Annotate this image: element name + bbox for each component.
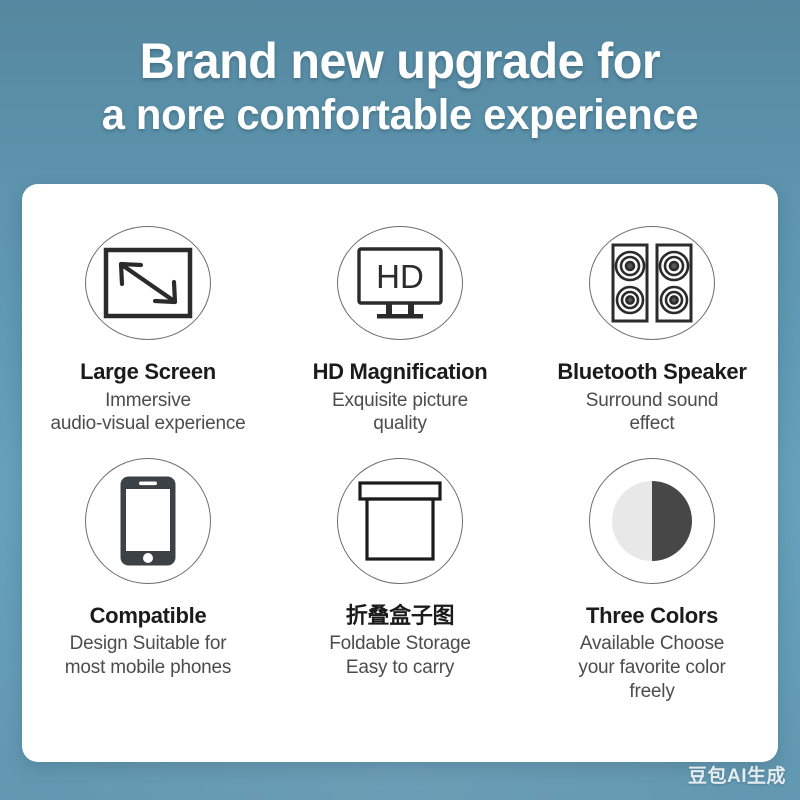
feature-grid: Large Screen Immersive audio-visual expe… bbox=[22, 184, 778, 762]
icon-circle bbox=[589, 226, 715, 340]
color-swatch-icon bbox=[610, 479, 694, 563]
feature-description: Exquisite picture quality bbox=[332, 389, 468, 437]
icon-circle bbox=[85, 458, 211, 584]
storage-box-icon bbox=[357, 480, 443, 562]
smartphone-icon bbox=[119, 475, 177, 567]
feature-title: Compatible bbox=[90, 604, 207, 628]
icon-circle bbox=[589, 458, 715, 584]
feature-description: Design Suitable for most mobile phones bbox=[65, 632, 231, 680]
watermark: 豆包AI生成 bbox=[688, 761, 786, 788]
icon-circle bbox=[337, 458, 463, 584]
icon-circle: HD bbox=[337, 226, 463, 340]
hd-monitor-icon: HD bbox=[355, 245, 445, 321]
feature-title: Large Screen bbox=[80, 360, 216, 384]
feature-title: HD Magnification bbox=[313, 360, 488, 384]
page-title: Brand new upgrade for a nore comfortable… bbox=[0, 36, 800, 137]
feature-item-compatible[interactable]: Compatible Design Suitable for most mobi… bbox=[22, 436, 274, 762]
feature-item-foldable-storage[interactable]: 折叠盒子图 Foldable Storage Easy to carry bbox=[274, 436, 526, 762]
headline-line-1: Brand new upgrade for bbox=[12, 36, 788, 86]
feature-title: Bluetooth Speaker bbox=[557, 360, 746, 384]
feature-item-bluetooth-speaker[interactable]: Bluetooth Speaker Surround sound effect bbox=[526, 184, 778, 436]
feature-description: Foldable Storage Easy to carry bbox=[329, 632, 471, 680]
feature-item-large-screen[interactable]: Large Screen Immersive audio-visual expe… bbox=[22, 184, 274, 436]
feature-item-hd-magnification[interactable]: HD HD Magnification Exquisite picture qu… bbox=[274, 184, 526, 436]
feature-description: Immersive audio-visual experience bbox=[50, 389, 245, 437]
feature-description: Surround sound effect bbox=[586, 389, 718, 437]
poster-canvas: Brand new upgrade for a nore comfortable… bbox=[0, 0, 800, 800]
feature-title: Three Colors bbox=[586, 604, 718, 628]
feature-item-three-colors[interactable]: Three Colors Available Choose your favor… bbox=[526, 436, 778, 762]
hd-icon-label: HD bbox=[376, 258, 424, 295]
headline-line-2: a nore comfortable experience bbox=[12, 94, 788, 137]
expand-screen-icon bbox=[102, 246, 194, 320]
feature-title: 折叠盒子图 bbox=[346, 604, 455, 628]
icon-circle bbox=[85, 226, 211, 340]
bluetooth-speaker-icon bbox=[610, 242, 694, 324]
feature-description: Available Choose your favorite color fre… bbox=[578, 632, 725, 703]
feature-card: Large Screen Immersive audio-visual expe… bbox=[22, 184, 778, 762]
